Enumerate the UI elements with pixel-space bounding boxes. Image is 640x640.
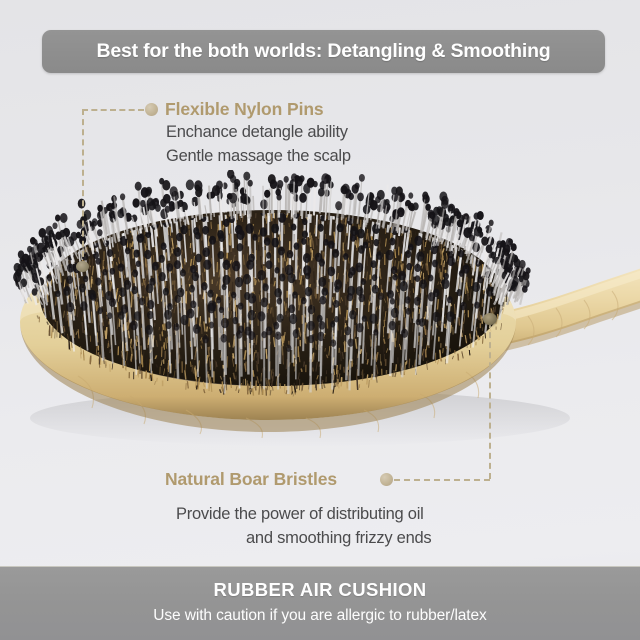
anchor-dot-boar-icon (483, 313, 497, 325)
callout-line-boar-2: and smoothing frizzy ends (246, 529, 431, 548)
callout-line-boar-1: Provide the power of distributing oil (176, 505, 424, 524)
header-banner: Best for the both worlds: Detangling & S… (42, 30, 605, 73)
bullet-dot-nylon-icon (145, 103, 158, 116)
callout-title-natural-boar-bristles: Natural Boar Bristles (165, 469, 337, 490)
anchor-dot-nylon-icon (76, 261, 89, 272)
callout-line-nylon-1: Enchance detangle ability (166, 123, 348, 142)
footer-bar: RUBBER AIR CUSHION Use with caution if y… (0, 566, 640, 640)
header-banner-text: Best for the both worlds: Detangling & S… (96, 40, 550, 63)
product-image-hair-brush (0, 170, 640, 470)
bullet-dot-boar-icon (380, 473, 393, 486)
callout-line-nylon-2: Gentle massage the scalp (166, 147, 351, 166)
leader-line-boar-horizontal (394, 479, 490, 481)
infographic-canvas: Best for the both worlds: Detangling & S… (0, 0, 640, 640)
footer-title: RUBBER AIR CUSHION (0, 579, 640, 601)
footer-subtitle: Use with caution if you are allergic to … (0, 607, 640, 625)
leader-line-boar-vertical (489, 322, 491, 479)
leader-line-nylon-vertical (82, 109, 84, 267)
callout-title-flexible-nylon-pins: Flexible Nylon Pins (165, 99, 324, 120)
leader-line-nylon-horizontal (82, 109, 144, 111)
